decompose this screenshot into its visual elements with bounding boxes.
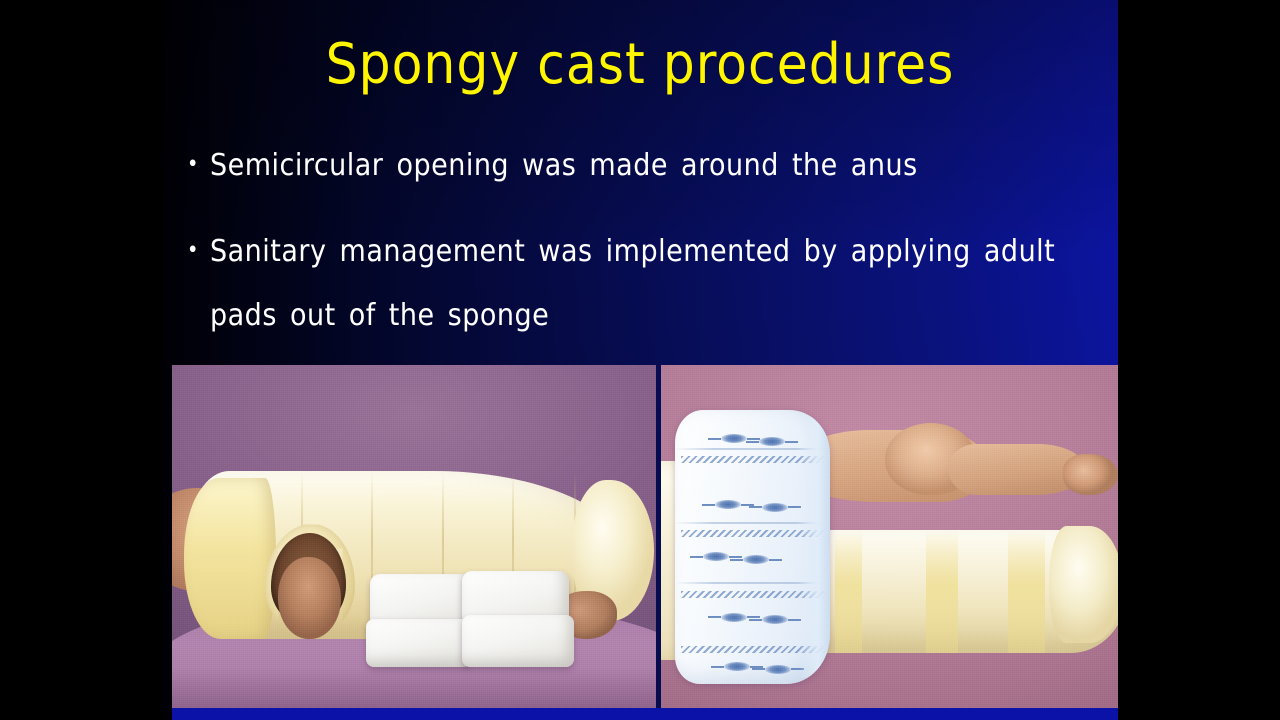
exposed-perineal-skin [278, 557, 341, 639]
foam-support-block [462, 615, 573, 666]
cast-distal-end [1049, 526, 1118, 643]
bullet-dot-icon: • [176, 148, 210, 182]
photo-frame-bar [172, 708, 1118, 720]
screenshot-root: Spongy cast procedures • Semicircular op… [0, 0, 1280, 720]
bullet-text-2-line1: Sanitary management was implemented by a… [210, 234, 1055, 269]
slide-title: Spongy cast procedures [162, 36, 1118, 95]
photo-cast-with-adult-pad-applied [661, 365, 1118, 708]
bed-shadow [172, 667, 656, 708]
cast-proximal-band [184, 478, 276, 639]
slide-bullet-list: • Semicircular opening was made around t… [176, 148, 1106, 331]
bullet-item-2: • Sanitary management was implemented by… [176, 234, 1106, 331]
bullet-item-1: • Semicircular opening was made around t… [176, 148, 1106, 182]
bullet-text-2-line2: pads out of the sponge [210, 301, 1106, 331]
presentation-slide: Spongy cast procedures • Semicircular op… [162, 0, 1118, 720]
photo-strip [172, 365, 1118, 708]
foam-support-block [366, 619, 472, 667]
photo-spica-cast-with-perineal-window [172, 365, 656, 708]
bullet-dot-icon: • [176, 234, 210, 268]
bullet-text-2: Sanitary management was implemented by a… [210, 234, 1106, 331]
bullet-text-1: Semicircular opening was made around the… [210, 148, 1106, 181]
adult-incontinence-pad [675, 410, 830, 684]
pad-elastic-edge [799, 415, 830, 678]
uncasted-leg-foot [1063, 454, 1118, 495]
